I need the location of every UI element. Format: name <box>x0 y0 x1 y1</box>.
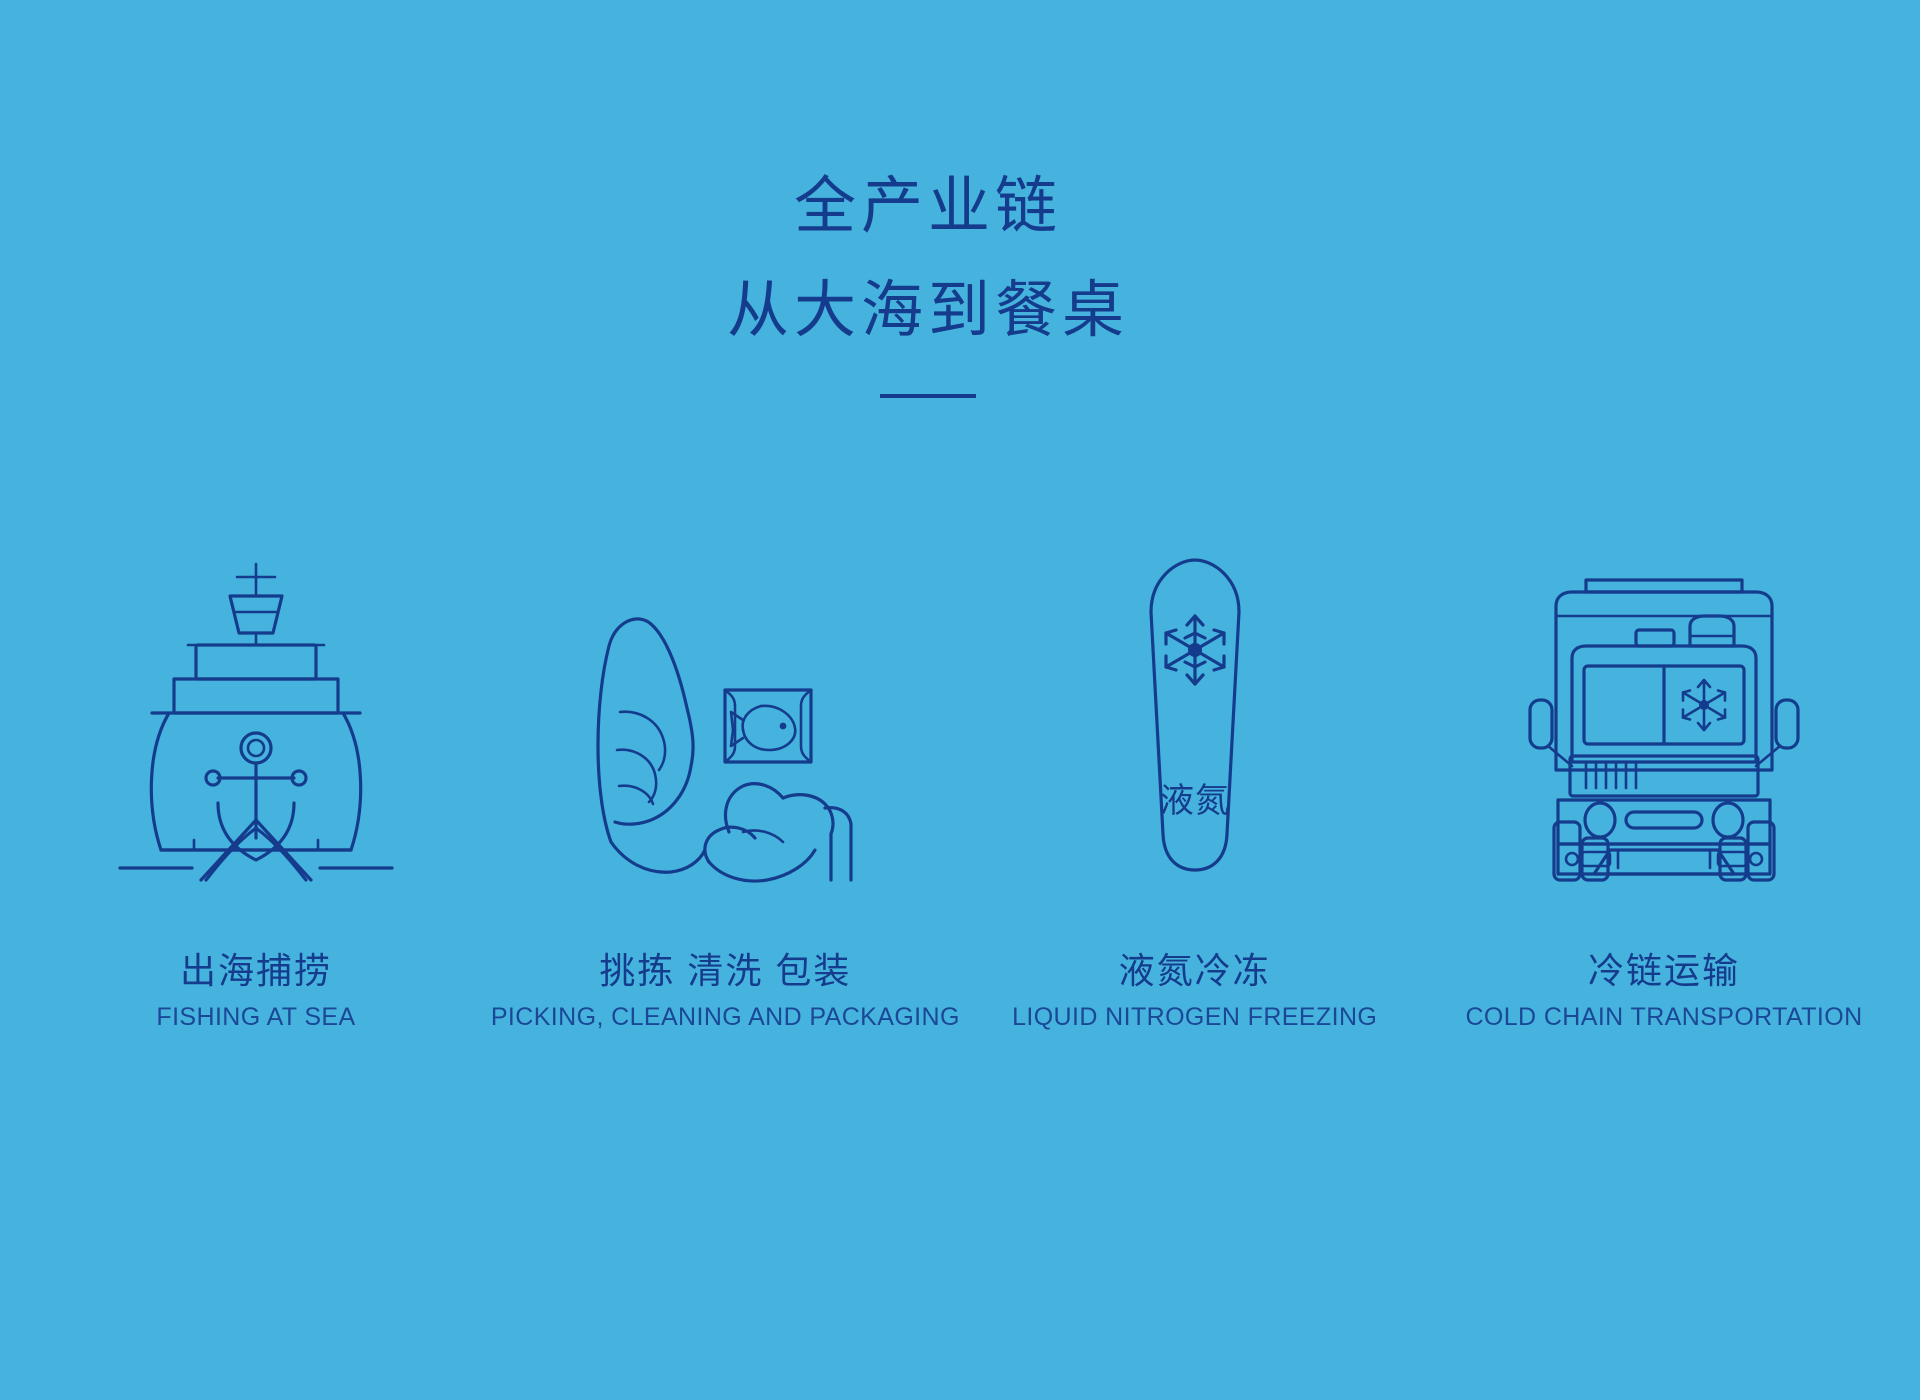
hands-holding-packaged-fish-icon <box>575 540 875 880</box>
process-step-cold-chain-transportation: 冷链运输 COLD CHAIN TRANSPORTATION <box>1434 540 1894 1032</box>
refrigerated-truck-icon <box>1514 540 1814 880</box>
title-divider <box>880 394 976 398</box>
step-label-cn: 出海捕捞 <box>156 950 355 992</box>
step-label-en: FISHING AT SEA <box>156 1004 355 1032</box>
page-title-block: 全产业链 从大海到餐桌 <box>0 176 1856 398</box>
process-step-liquid-nitrogen-freezing: 液氮 液氮冷冻 LIQUID NITROGEN FREEZING <box>965 540 1425 1032</box>
page-title-line-1: 全产业链 <box>0 176 1856 238</box>
step-captions: 挑拣 清洗 包装 PICKING, CLEANING AND PACKAGING <box>491 950 960 1032</box>
step-captions: 冷链运输 COLD CHAIN TRANSPORTATION <box>1465 950 1862 1032</box>
step-label-en: COLD CHAIN TRANSPORTATION <box>1465 1004 1862 1032</box>
step-label-cn: 冷链运输 <box>1465 950 1862 992</box>
infographic-canvas: 全产业链 从大海到餐桌 <box>0 0 1920 1400</box>
step-captions: 出海捕捞 FISHING AT SEA <box>156 950 355 1032</box>
title-divider-wrap <box>0 394 1856 398</box>
tank-label-text: 液氮 <box>1160 782 1230 820</box>
step-captions: 液氮冷冻 LIQUID NITROGEN FREEZING <box>1012 950 1377 1032</box>
step-label-cn: 液氮冷冻 <box>1012 950 1377 992</box>
step-label-cn: 挑拣 清洗 包装 <box>491 950 960 992</box>
step-label-en: PICKING, CLEANING AND PACKAGING <box>491 1004 960 1032</box>
process-step-fishing-at-sea: 出海捕捞 FISHING AT SEA <box>26 540 486 1032</box>
page-title-line-2: 从大海到餐桌 <box>0 280 1856 342</box>
process-step-picking-cleaning-packaging: 挑拣 清洗 包装 PICKING, CLEANING AND PACKAGING <box>495 540 955 1032</box>
liquid-nitrogen-tank-icon: 液氮 <box>1105 540 1285 880</box>
step-label-en: LIQUID NITROGEN FREEZING <box>1012 1004 1377 1032</box>
process-steps-row: 出海捕捞 FISHING AT SEA <box>0 540 1920 1032</box>
fishing-boat-icon <box>106 540 406 880</box>
